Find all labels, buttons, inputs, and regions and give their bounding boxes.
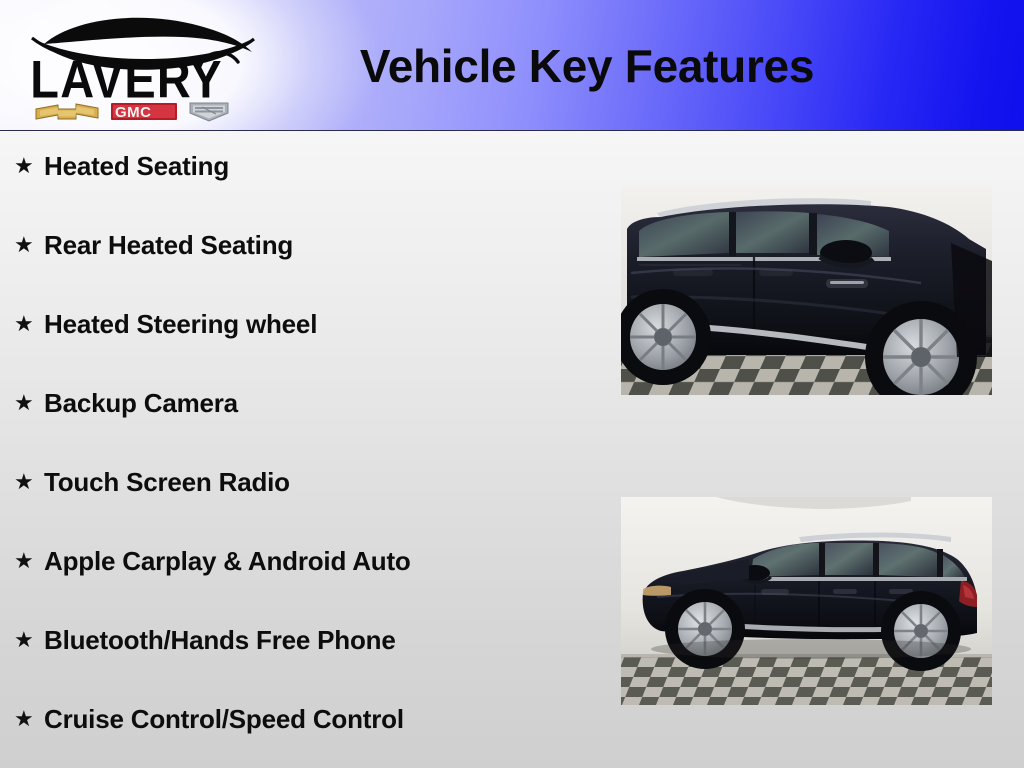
list-item-label: Heated Steering wheel [44,309,317,340]
lavery-logo[interactable]: LAVERY GMC [14,4,262,126]
star-icon: ★ [14,629,44,651]
list-item-label: Backup Camera [44,388,238,419]
star-icon: ★ [14,550,44,572]
list-item-label: Apple Carplay & Android Auto [44,546,411,577]
vehicle-features-list: ★ Heated Seating ★ Rear Heated Seating ★… [0,131,600,768]
list-item: ★ Heated Seating [0,151,600,230]
list-item: ★ Apple Carplay & Android Auto [0,546,600,625]
slide-canvas: LAVERY GMC [0,0,1024,768]
cadillac-crest-icon [190,103,228,121]
star-icon: ★ [14,392,44,414]
header-band: LAVERY GMC [0,0,1024,131]
star-icon: ★ [14,155,44,177]
list-item: ★ Rear Heated Seating [0,230,600,309]
vehicle-photo-full-side[interactable] [621,497,992,705]
list-item: ★ Cruise Control/Speed Control [0,704,600,768]
svg-text:LAVERY: LAVERY [30,50,222,109]
list-item: ★ Touch Screen Radio [0,467,600,546]
list-item-label: Rear Heated Seating [44,230,293,261]
star-icon: ★ [14,234,44,256]
list-item-label: Heated Seating [44,151,229,182]
vehicle-photo-side-closeup[interactable] [621,187,992,395]
rear-wheel [881,591,961,671]
svg-text:GMC: GMC [115,104,152,121]
list-item-label: Cruise Control/Speed Control [44,704,404,735]
gmc-logo: GMC [111,103,177,121]
star-icon: ★ [14,471,44,493]
star-icon: ★ [14,313,44,335]
list-item: ★ Backup Camera [0,388,600,467]
list-item: ★ Bluetooth/Hands Free Phone [0,625,600,704]
star-icon: ★ [14,708,44,730]
logo-wordmark: LAVERY [30,50,222,109]
list-item: ★ Heated Steering wheel [0,309,600,388]
list-item-label: Bluetooth/Hands Free Phone [44,625,396,656]
list-item-label: Touch Screen Radio [44,467,290,498]
